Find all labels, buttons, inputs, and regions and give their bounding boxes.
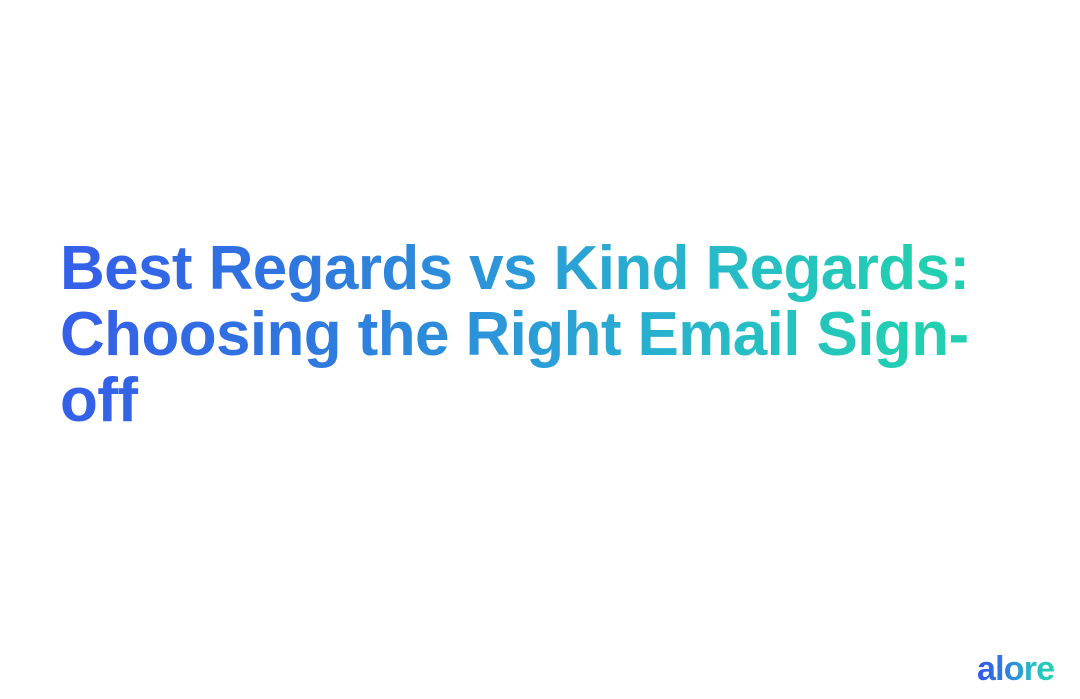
slide-canvas: Best Regards vs Kind Regards: Choosing t… <box>0 0 1080 699</box>
alore-logo: alore <box>977 650 1054 688</box>
page-title: Best Regards vs Kind Regards: Choosing t… <box>60 236 990 434</box>
headline-block: Best Regards vs Kind Regards: Choosing t… <box>60 236 990 434</box>
